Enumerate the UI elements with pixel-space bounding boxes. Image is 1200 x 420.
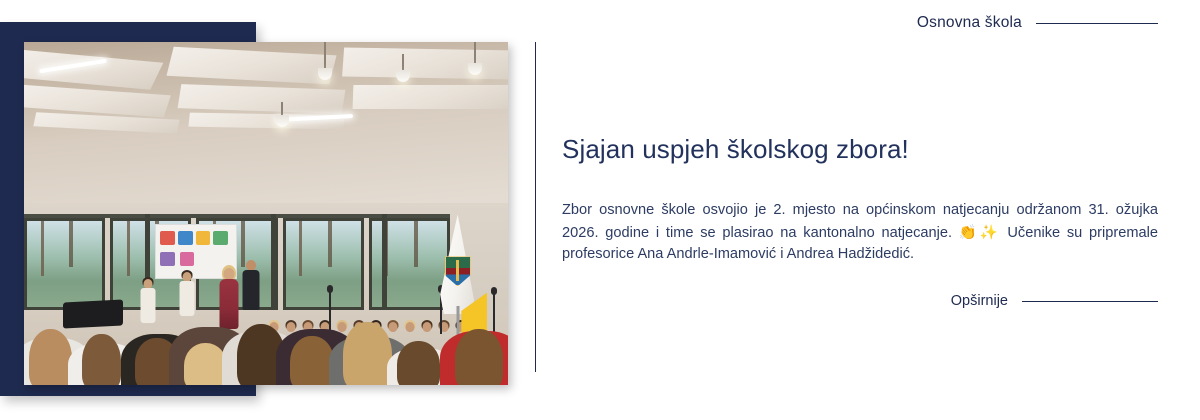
read-more-label: Opširnije bbox=[951, 293, 1008, 309]
horizontal-rule-icon bbox=[1036, 23, 1158, 24]
page-title: Sjajan uspjeh školskog zbora! bbox=[562, 134, 909, 165]
media-block bbox=[0, 0, 520, 420]
audience-foreground bbox=[24, 268, 508, 385]
ceiling bbox=[24, 42, 508, 214]
article-photo[interactable] bbox=[24, 42, 508, 385]
article-body: Zbor osnovne škole osvojio je 2. mjesto … bbox=[562, 200, 1158, 266]
news-card: Osnovna škola Sjajan uspjeh školskog zbo… bbox=[0, 0, 1200, 420]
celebration-emoji: 👏✨ bbox=[959, 224, 1001, 241]
pendant-lamp bbox=[324, 42, 326, 69]
content-column: Osnovna škola Sjajan uspjeh školskog zbo… bbox=[562, 0, 1158, 420]
vertical-divider bbox=[535, 42, 536, 372]
category-kicker[interactable]: Osnovna škola bbox=[917, 14, 1158, 32]
horizontal-rule-icon bbox=[1022, 301, 1158, 302]
read-more-link[interactable]: Opširnije bbox=[951, 293, 1158, 309]
pendant-lamp bbox=[402, 54, 404, 71]
pendant-lamp bbox=[281, 102, 283, 116]
category-label: Osnovna škola bbox=[917, 14, 1022, 32]
pendant-lamp bbox=[474, 42, 476, 64]
photo-scene bbox=[24, 42, 508, 385]
